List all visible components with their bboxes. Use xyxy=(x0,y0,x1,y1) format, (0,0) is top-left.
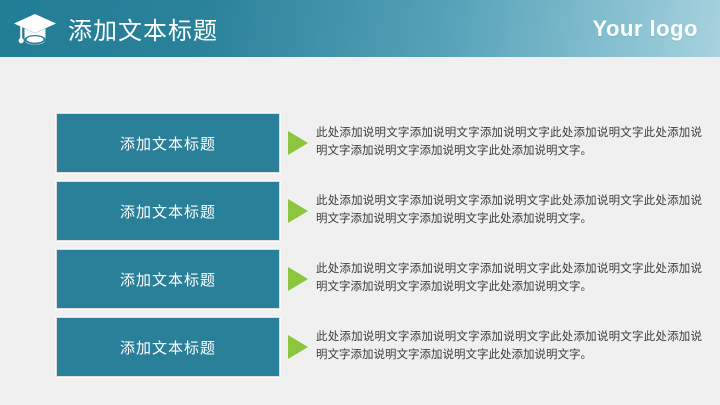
title-box-1[interactable]: 添加文本标题 xyxy=(56,113,280,173)
play-triangle-icon xyxy=(288,335,308,359)
logo-text: Your logo xyxy=(592,16,698,42)
title-box-4[interactable]: 添加文本标题 xyxy=(56,317,280,377)
arrow-cell-2 xyxy=(280,181,316,241)
description-cell-1: 此处添加说明文字添加说明文字添加说明文字此处添加说明文字此处添加说明文字添加说明… xyxy=(316,113,708,173)
description-cell-4: 此处添加说明文字添加说明文字添加说明文字此处添加说明文字此处添加说明文字添加说明… xyxy=(316,317,708,377)
arrow-cell-1 xyxy=(280,113,316,173)
play-triangle-icon xyxy=(288,267,308,291)
title-box-label: 添加文本标题 xyxy=(120,201,216,222)
slide: 添加文本标题 Your logo 添加文本标题 此处添加说明文字添加说明文字添加… xyxy=(0,0,720,405)
title-box-label: 添加文本标题 xyxy=(120,269,216,290)
list-item: 添加文本标题 此处添加说明文字添加说明文字添加说明文字此处添加说明文字此处添加说… xyxy=(56,113,708,173)
list-item: 添加文本标题 此处添加说明文字添加说明文字添加说明文字此处添加说明文字此处添加说… xyxy=(56,249,708,309)
description-text: 此处添加说明文字添加说明文字添加说明文字此处添加说明文字此处添加说明文字添加说明… xyxy=(316,193,702,229)
arrow-cell-3 xyxy=(280,249,316,309)
arrow-cell-4 xyxy=(280,317,316,377)
description-text: 此处添加说明文字添加说明文字添加说明文字此处添加说明文字此处添加说明文字添加说明… xyxy=(316,329,702,365)
page-title: 添加文本标题 xyxy=(68,11,218,46)
description-cell-2: 此处添加说明文字添加说明文字添加说明文字此处添加说明文字此处添加说明文字添加说明… xyxy=(316,181,708,241)
header-left-group: 添加文本标题 xyxy=(12,9,592,49)
slide-header: 添加文本标题 Your logo xyxy=(0,0,720,57)
description-cell-3: 此处添加说明文字添加说明文字添加说明文字此处添加说明文字此处添加说明文字添加说明… xyxy=(316,249,708,309)
title-box-label: 添加文本标题 xyxy=(120,337,216,358)
title-box-3[interactable]: 添加文本标题 xyxy=(56,249,280,309)
title-box-2[interactable]: 添加文本标题 xyxy=(56,181,280,241)
list-item: 添加文本标题 此处添加说明文字添加说明文字添加说明文字此处添加说明文字此处添加说… xyxy=(56,317,708,377)
graduation-cap-icon xyxy=(12,9,58,49)
play-triangle-icon xyxy=(288,131,308,155)
description-text: 此处添加说明文字添加说明文字添加说明文字此处添加说明文字此处添加说明文字添加说明… xyxy=(316,125,702,161)
description-text: 此处添加说明文字添加说明文字添加说明文字此处添加说明文字此处添加说明文字添加说明… xyxy=(316,261,702,297)
list-item: 添加文本标题 此处添加说明文字添加说明文字添加说明文字此处添加说明文字此处添加说… xyxy=(56,181,708,241)
play-triangle-icon xyxy=(288,199,308,223)
title-box-label: 添加文本标题 xyxy=(120,133,216,154)
content-list: 添加文本标题 此处添加说明文字添加说明文字添加说明文字此处添加说明文字此处添加说… xyxy=(0,57,720,405)
